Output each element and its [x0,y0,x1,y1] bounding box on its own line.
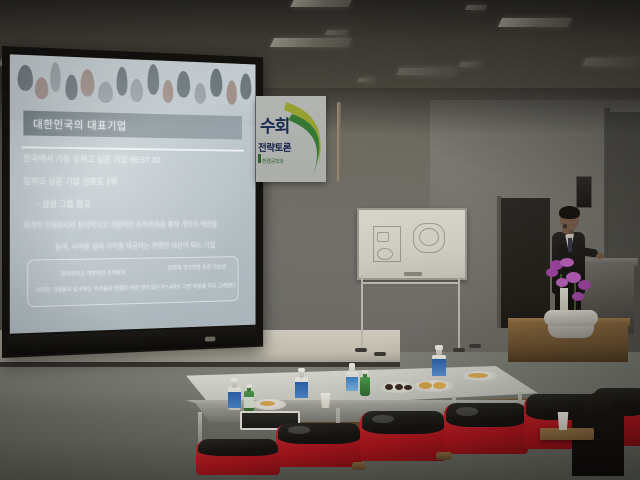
ceiling-vent [459,62,481,67]
food-item [433,382,446,389]
slide-body: 한국에서 가장 일하고 싶은 기업 BEST 30 일하고 싶은 기업 선호도 … [23,154,243,264]
orchid-plant [540,258,602,338]
green-soda-bottle [360,370,370,396]
snack-plate [414,380,454,392]
water-bottle [228,378,241,410]
ceiling-light-fixture [396,68,457,75]
whiteboard-stand-leg [361,276,363,350]
plant-pot-wrap [544,310,598,326]
ceiling-light-fixture [498,18,572,27]
seat-armrest [436,452,452,460]
auditorium-seat[interactable] [276,424,362,480]
orchid-flower [556,278,568,287]
orchid-flower [546,268,558,277]
water-bottle [346,363,358,393]
slide-paragraph: 체계적 인재관리와 창의적이고 개방적인 조직문화를 통해 개인의 역량을 [23,221,243,230]
banner-hanging-rod [337,102,341,182]
slide-bullet: - 삼성 그룹 참고 [23,200,243,210]
callout-text: 진취적 국가경쟁 추진 가능성 [168,263,226,272]
event-banner: 수회 전략토론 환경공학과 [256,96,326,182]
presenter-left-hand [562,228,569,234]
auditorium-seat[interactable] [360,412,446,480]
ceiling-vent [357,78,375,82]
wall-speaker-icon [576,176,592,208]
food-item [404,385,412,390]
food-item [419,382,432,389]
presentation-slide: 대한민국의 대표기업 한국에서 가장 일하고 싶은 기업 BEST 30 일하고… [10,54,256,333]
screen-pull-handle[interactable] [205,336,215,341]
banner-shading [256,96,326,182]
whiteboard-marker-tray [404,272,422,276]
presentation-room-photo: 대한민국의 대표기업 한국에서 가장 일하고 싶은 기업 BEST 30 일하고… [0,0,640,480]
slide-divider [21,146,243,151]
ceiling-vent [465,5,487,10]
whiteboard-sketch [377,232,389,242]
food-item [468,373,488,378]
whiteboard-caster [453,348,465,352]
orchid-flower [560,258,574,267]
snack-plate [381,382,415,393]
snack-plate [462,371,498,381]
projection-screen: 대한민국의 대표기업 한국에서 가장 일하고 싶은 기업 BEST 30 일하고… [2,46,290,358]
seat-highlight [456,407,478,416]
water-bottle [432,345,446,379]
whiteboard-sketch [377,248,393,260]
ceiling-vent [325,30,349,35]
seat-armrest [352,462,366,470]
door-frame [497,196,501,328]
ceiling-light-fixture [582,58,640,66]
screen-surface: 대한민국의 대표기업 한국에서 가장 일하고 싶은 기업 BEST 30 일하고… [10,54,256,333]
screen-frame: 대한민국의 대표기업 한국에서 가장 일하고 싶은 기업 BEST 30 일하고… [2,46,263,358]
food-item [385,384,393,390]
orchid-flower [572,292,584,301]
whiteboard-sketch [419,228,439,246]
food-item [260,401,275,406]
callout-text: 창의적이고 개방적인 조직문화 [61,269,126,278]
slide-title: 대한민국의 대표기업 [23,115,126,133]
slide-bullet: 일하고 싶은 기업 선호도 1위 [23,177,243,188]
whiteboard [357,208,467,280]
callout-text: 이러한 기업들이 요구하는 우리들의 방향은 어떤 것이 있는가? 4차는 그런… [36,281,236,294]
whiteboard-caster [374,352,386,356]
seat-headrest [446,403,527,427]
orchid-flower [578,280,591,290]
slide-title-band: 대한민국의 대표기업 [23,111,242,140]
seat-headrest [362,411,445,435]
seat-headrest [278,423,361,444]
audience-member-head [584,392,614,420]
whiteboard-stand-crossbar [361,282,460,284]
seat-tray-table[interactable] [540,428,594,440]
presenter-tie [568,238,572,252]
seat-headrest [198,439,279,456]
wainscot-trim [0,362,400,367]
whiteboard-caster [469,344,481,348]
whiteboard-caster [355,348,367,352]
slide-paragraph: 높여, 시야를 넓혀 가치를 제공하는 현명한 대상이 되는 기업 [23,241,243,252]
slide-callout-box: 창의적이고 개방적인 조직문화 진취적 국가경쟁 추진 가능성 이러한 기업들이… [27,256,238,307]
snack-plate [252,399,286,410]
presenter-hair [559,206,580,219]
auditorium-seat[interactable] [196,440,280,480]
whiteboard-stand-leg [458,276,460,350]
water-bottle [295,368,308,400]
auditorium-seat[interactable] [444,404,528,476]
food-item [395,384,403,390]
slide-bullet: 한국에서 가장 일하고 싶은 기업 BEST 30 [23,154,243,166]
seat-highlight [288,426,310,433]
ceiling-light-fixture [290,0,351,7]
green-soda-bottle [244,384,254,412]
